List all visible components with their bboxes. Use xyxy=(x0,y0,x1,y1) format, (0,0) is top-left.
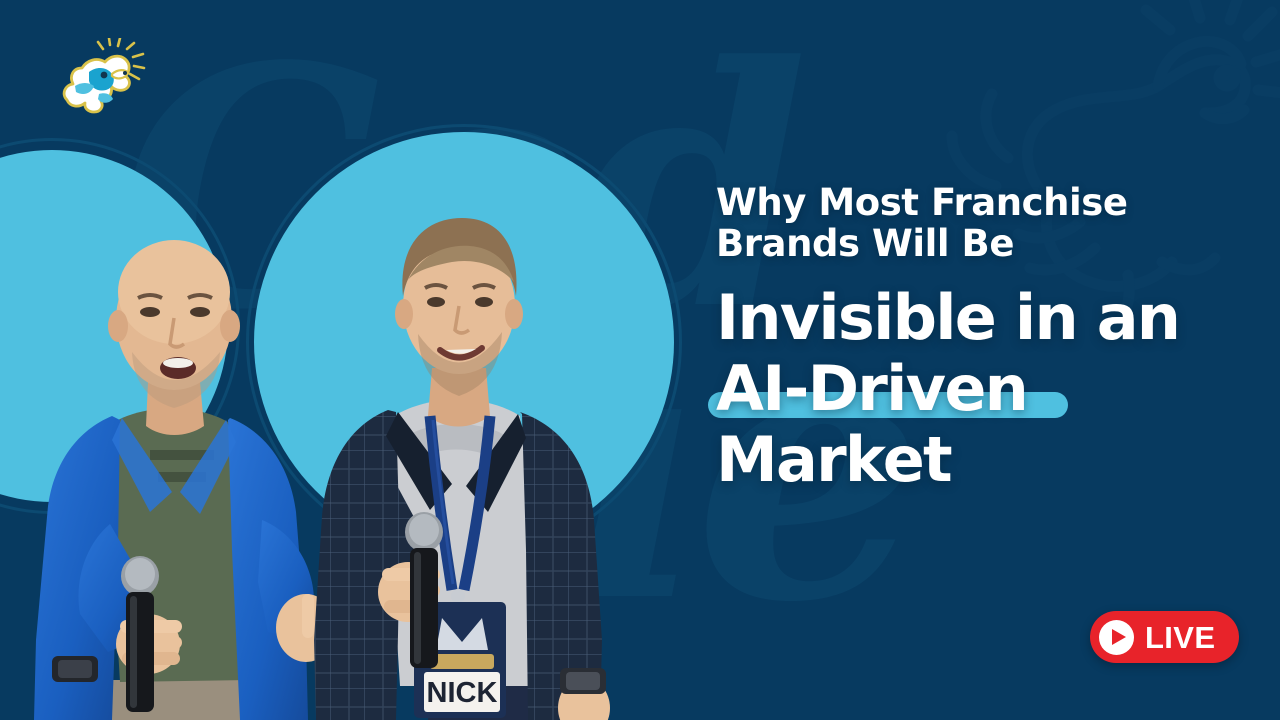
live-badge[interactable]: LIVE xyxy=(1090,611,1239,663)
speakers-photo: NICK xyxy=(0,120,700,720)
title-line-2: AI-Driven xyxy=(716,352,1027,425)
title-line-1: Invisible in an xyxy=(716,287,1216,349)
kicker-text: Why Most Franchise Brands Will Be xyxy=(716,182,1216,265)
leaping-dog-mascot-logo[interactable] xyxy=(55,38,147,118)
title-line-3: Market xyxy=(716,429,1216,491)
kicker-line-2: Brands Will Be xyxy=(716,223,1216,264)
badge-name-text: NICK xyxy=(427,677,498,709)
live-label: LIVE xyxy=(1145,622,1215,653)
headline-block: Why Most Franchise Brands Will Be Invisi… xyxy=(716,182,1216,491)
title-text: Invisible in an AI-Driven Market xyxy=(716,287,1216,491)
microphone-right xyxy=(405,512,443,668)
speaker-right: NICK xyxy=(314,218,610,720)
title-line-2-wrapper: AI-Driven xyxy=(716,358,1216,420)
thumbnail-canvas: Ced ue xyxy=(0,0,1280,720)
play-icon xyxy=(1099,620,1134,655)
microphone-left xyxy=(121,556,159,712)
kicker-line-1: Why Most Franchise xyxy=(716,182,1216,223)
speaker-left xyxy=(34,240,339,720)
